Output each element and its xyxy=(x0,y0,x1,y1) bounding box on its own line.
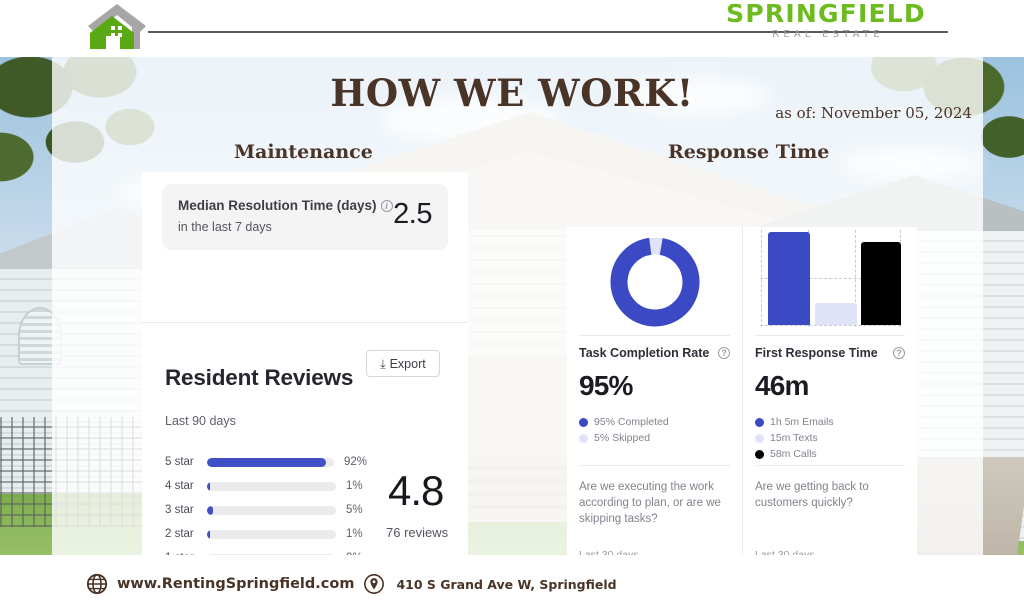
rating-row-track xyxy=(207,506,336,515)
bar-texts xyxy=(815,303,857,325)
task-completion-note: Are we executing the work according to p… xyxy=(579,479,730,527)
legend-swatch xyxy=(579,434,588,443)
export-button-label: Export xyxy=(390,357,426,371)
rating-distribution-chart: 5 star 92% 4 star 1% 3 star 5% 2 star xyxy=(165,450,375,555)
first-response-legend: 1h 5m Emails 15m Texts 58m Calls xyxy=(755,414,905,462)
first-response-note: Are we getting back to customers quickly… xyxy=(755,479,905,511)
legend-item: 15m Texts xyxy=(755,430,905,446)
map-pin-icon xyxy=(363,573,385,595)
rating-row-percent: 1% xyxy=(336,480,371,492)
card-divider xyxy=(755,335,905,336)
bar-chart-plot xyxy=(760,230,901,327)
legend-item: 1h 5m Emails xyxy=(755,414,905,430)
legend-swatch xyxy=(755,434,764,443)
legend-swatch xyxy=(579,418,588,427)
mrt-value: 2.5 xyxy=(393,198,432,231)
first-response-period: Last 30 days xyxy=(755,549,815,555)
footer-address: 410 S Grand Ave W, Springfield xyxy=(396,577,616,592)
hero-section: HOW WE WORK! as of: November 05, 2024 Ma… xyxy=(0,57,1024,555)
rating-row-label: 5 star xyxy=(165,456,207,468)
review-count: 76 reviews xyxy=(386,525,448,540)
brand-name: SPRINGFIELD xyxy=(716,0,936,28)
resident-reviews-title: Resident Reviews xyxy=(165,365,353,391)
download-icon: ⤓ xyxy=(380,358,385,370)
legend-item: 5% Skipped xyxy=(579,430,730,446)
task-completion-legend: 95% Completed 5% Skipped xyxy=(579,414,730,446)
rating-row-percent: 0% xyxy=(336,552,371,555)
legend-label: 15m Texts xyxy=(770,432,818,444)
average-rating: 4.8 xyxy=(388,467,443,515)
mrt-subtitle: in the last 7 days xyxy=(178,220,272,234)
help-icon[interactable]: ? xyxy=(893,347,905,359)
median-resolution-time-card: Median Resolution Time (days)i in the la… xyxy=(162,184,448,250)
section-title-maintenance: Maintenance xyxy=(234,141,373,163)
as-of-date: as of: November 05, 2024 xyxy=(775,104,972,122)
rating-row: 4 star 1% xyxy=(165,474,375,498)
export-button[interactable]: ⤓ Export xyxy=(366,350,440,377)
bar-calls xyxy=(861,242,901,325)
rating-row: 2 star 1% xyxy=(165,522,375,546)
legend-label: 5% Skipped xyxy=(594,432,650,444)
first-response-bar-chart xyxy=(755,227,905,335)
info-icon[interactable]: i xyxy=(381,200,393,212)
card-note-divider xyxy=(755,465,905,466)
maintenance-panel: Median Resolution Time (days)i in the la… xyxy=(142,172,468,555)
rating-row: 1 star 0% xyxy=(165,546,375,555)
response-time-panel: Task Completion Rate ? 95% 95% Completed… xyxy=(567,227,917,555)
house-logo-icon xyxy=(84,2,150,52)
task-completion-title-row: Task Completion Rate ? xyxy=(579,346,730,360)
footer-website-url[interactable]: www.RentingSpringfield.com xyxy=(117,576,354,592)
rating-row-label: 1 star xyxy=(165,552,207,555)
panel-divider xyxy=(142,322,468,323)
legend-label: 58m Calls xyxy=(770,448,817,460)
task-completion-rate-card: Task Completion Rate ? 95% 95% Completed… xyxy=(567,227,742,555)
legend-label: 1h 5m Emails xyxy=(770,416,834,428)
legend-swatch xyxy=(755,450,764,459)
page-footer: www.RentingSpringfield.com 410 S Grand A… xyxy=(0,555,1024,613)
rating-row-track xyxy=(207,530,336,539)
mrt-label-text: Median Resolution Time (days) xyxy=(178,198,377,213)
globe-icon xyxy=(86,573,108,595)
rating-row-track xyxy=(207,554,336,556)
brand-lockup: SPRINGFIELD REAL ESTATE xyxy=(716,0,936,42)
rating-row-percent: 1% xyxy=(336,528,371,540)
page-header: SPRINGFIELD REAL ESTATE xyxy=(0,0,1024,57)
legend-item: 58m Calls xyxy=(755,446,905,462)
donut-chart-icon xyxy=(605,232,705,332)
task-completion-donut-chart xyxy=(579,227,730,335)
section-title-response-time: Response Time xyxy=(668,141,829,163)
first-response-title-row: First Response Time ? xyxy=(755,346,905,360)
legend-label: 95% Completed xyxy=(594,416,669,428)
first-response-value: 46m xyxy=(755,370,905,402)
card-note-divider xyxy=(579,465,730,466)
legend-item: 95% Completed xyxy=(579,414,730,430)
task-completion-value: 95% xyxy=(579,370,730,402)
first-response-time-card: First Response Time ? 46m 1h 5m Emails 1… xyxy=(742,227,917,555)
rating-row-percent: 5% xyxy=(336,504,371,516)
first-response-title: First Response Time xyxy=(755,346,878,360)
rating-row-track xyxy=(207,458,334,467)
rating-row-label: 3 star xyxy=(165,504,207,516)
legend-swatch xyxy=(755,418,764,427)
rating-row: 3 star 5% xyxy=(165,498,375,522)
rating-row-label: 2 star xyxy=(165,528,207,540)
rating-row: 5 star 92% xyxy=(165,450,375,474)
card-divider xyxy=(579,335,730,336)
mrt-label: Median Resolution Time (days)i xyxy=(178,198,393,213)
rating-row-track xyxy=(207,482,336,491)
task-completion-title: Task Completion Rate xyxy=(579,346,709,360)
rating-row-label: 4 star xyxy=(165,480,207,492)
bar-emails xyxy=(768,232,810,325)
help-icon[interactable]: ? xyxy=(718,347,730,359)
rating-row-percent: 92% xyxy=(334,456,375,468)
task-completion-period: Last 30 days xyxy=(579,549,639,555)
resident-reviews-period: Last 90 days xyxy=(165,414,236,428)
brand-subtitle: REAL ESTATE xyxy=(716,28,936,42)
